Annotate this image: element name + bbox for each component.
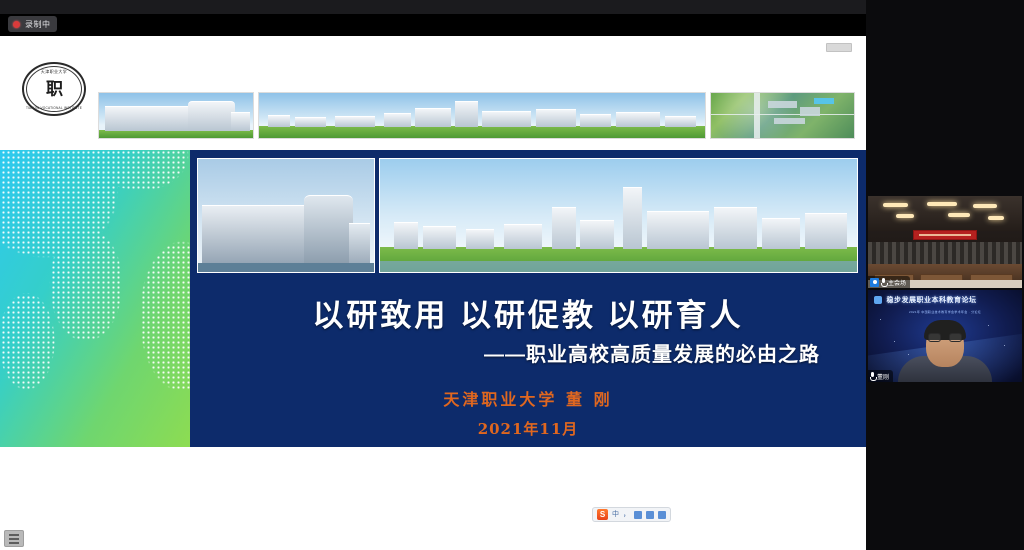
ime-toolbar[interactable]: S 中 ，	[592, 507, 671, 522]
slide-author: 天津职业大学 董 刚	[190, 386, 866, 410]
sogou-logo-icon[interactable]: S	[597, 509, 608, 520]
keyboard-icon[interactable]	[646, 511, 654, 519]
voice-input-icon[interactable]	[634, 511, 642, 519]
ime-menu-icon[interactable]	[658, 511, 666, 519]
eyeglasses-icon	[928, 333, 962, 342]
campus-photo-panorama	[258, 92, 706, 139]
participant-label: 董刚	[868, 370, 893, 382]
slide-title-zone: 以研致用 以研促教 以研育人 ——职业高校高质量发展的必由之路 天津职业大学 董…	[190, 278, 866, 447]
seal-center-glyph: 职	[22, 81, 86, 98]
conference-room-video	[868, 196, 1022, 288]
share-header-band: 天津职业大学 职 TIANJIN VOCATIONAL INSTITUTE	[0, 36, 866, 150]
microphone-icon	[881, 278, 886, 286]
recording-indicator[interactable]: 录制中	[8, 16, 57, 32]
slide-bottom-whitespace	[0, 447, 866, 550]
virtual-background-title: 稳步发展职业本科教育论坛	[886, 295, 976, 305]
forum-logo-icon	[874, 296, 882, 304]
share-header-button[interactable]	[826, 43, 852, 52]
participant-rail: 主会场 稳步发展职业本科教育论坛 2021年 中国职业技术教育学会学术年会 · …	[866, 0, 1024, 550]
participant-name: 主会场	[888, 278, 906, 287]
virtual-background-subtitle: 2021年 中国职业技术教育学会学术年会 · 分论坛	[868, 310, 1022, 314]
slide-title: 以研致用 以研促教 以研育人	[190, 290, 866, 335]
presentation-slide: 以研致用 以研促教 以研育人 ——职业高校高质量发展的必由之路 天津职业大学 董…	[0, 150, 866, 550]
recording-label: 录制中	[25, 19, 51, 30]
campus-wide-panorama-photo	[379, 158, 858, 273]
campus-building-closeup-photo	[197, 158, 375, 273]
slide-date: 2021年11月	[190, 418, 866, 439]
campus-photo-aerial	[710, 92, 855, 139]
menu-icon[interactable]	[4, 530, 24, 547]
participant-tile-main-venue[interactable]: 主会场	[868, 196, 1022, 288]
campus-photo-library	[98, 92, 254, 139]
record-dot-icon	[13, 21, 20, 28]
participant-label: 主会场	[868, 276, 910, 288]
university-seal-icon: 天津职业大学 职 TIANJIN VOCATIONAL INSTITUTE	[22, 62, 86, 116]
host-badge-icon	[870, 278, 879, 287]
seal-arc-top: 天津职业大学	[22, 69, 86, 75]
microphone-icon	[870, 372, 875, 380]
seal-arc-bottom: TIANJIN VOCATIONAL INSTITUTE	[22, 106, 86, 110]
slide-subtitle: ——职业高校高质量发展的必由之路	[484, 338, 820, 367]
dotted-world-map-graphic	[0, 150, 190, 447]
participant-name: 董刚	[877, 372, 889, 381]
chinese-mode-icon[interactable]: 中	[612, 511, 619, 518]
speaker-webcam-video: 稳步发展职业本科教育论坛 2021年 中国职业技术教育学会学术年会 · 分论坛	[868, 290, 1022, 382]
punctuation-icon[interactable]: ，	[623, 511, 630, 518]
participant-tile-speaker[interactable]: 稳步发展职业本科教育论坛 2021年 中国职业技术教育学会学术年会 · 分论坛 …	[868, 290, 1022, 382]
screen-share-stage[interactable]: 天津职业大学 职 TIANJIN VOCATIONAL INSTITUTE	[0, 36, 866, 550]
